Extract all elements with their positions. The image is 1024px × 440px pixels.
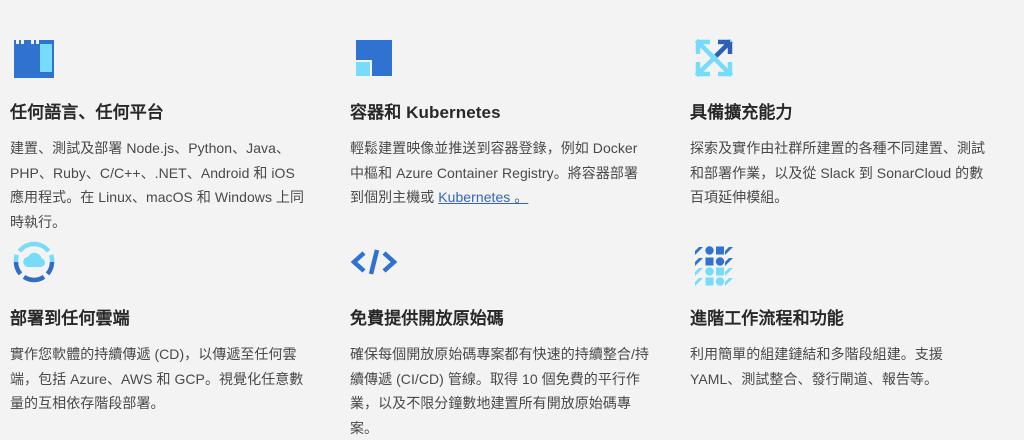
feature-card-any-language: 任何語言、任何平台 建置、測試及部署 Node.js、Python、Java、P… bbox=[0, 34, 340, 234]
cloud-deploy-icon bbox=[10, 238, 58, 286]
feature-body: 探索及實作由社群所建置的各種不同建置、測試和部署作業，以及從 Slack 到 S… bbox=[690, 136, 996, 210]
feature-body-text: 利用簡單的組建鏈結和多階段組建。支援 YAML、測試整合、發行閘道、報告等。 bbox=[690, 346, 943, 387]
feature-card-containers-kubernetes: 容器和 Kubernetes 輕鬆建置映像並推送到容器登錄，例如 Docker … bbox=[340, 34, 680, 234]
feature-body: 建置、測試及部署 Node.js、Python、Java、PHP、Ruby、C/… bbox=[10, 136, 312, 234]
feature-body: 確保每個開放原始碼專案都有快速的持續整合/持續傳遞 (CI/CD) 管線。取得 … bbox=[350, 342, 652, 440]
feature-body: 實作您軟體的持續傳遞 (CD)，以傳遞至任何雲端，包括 Azure、AWS 和 … bbox=[10, 342, 312, 416]
feature-body: 利用簡單的組建鏈結和多階段組建。支援 YAML、測試整合、發行閘道、報告等。 bbox=[690, 342, 996, 391]
code-brackets-icon bbox=[350, 238, 398, 286]
feature-body-text: 建置、測試及部署 Node.js、Python、Java、PHP、Ruby、C/… bbox=[10, 140, 304, 230]
feature-card-scalability: 具備擴充能力 探索及實作由社群所建置的各種不同建置、測試和部署作業，以及從 Sl… bbox=[680, 34, 1024, 234]
feature-card-open-source: 免費提供開放原始碼 確保每個開放原始碼專案都有快速的持續整合/持續傳遞 (CI/… bbox=[340, 234, 680, 440]
feature-title: 任何語言、任何平台 bbox=[10, 102, 312, 124]
feature-body: 輕鬆建置映像並推送到容器登錄，例如 Docker 中樞和 Azure Conta… bbox=[350, 136, 652, 210]
feature-title: 容器和 Kubernetes bbox=[350, 102, 652, 124]
feature-title: 進階工作流程和功能 bbox=[690, 308, 996, 330]
platform-window-icon bbox=[10, 34, 58, 82]
feature-card-advanced-workflows: 進階工作流程和功能 利用簡單的組建鏈結和多階段組建。支援 YAML、測試整合、發… bbox=[680, 234, 1024, 440]
feature-card-any-cloud: 部署到任何雲端 實作您軟體的持續傳遞 (CD)，以傳遞至任何雲端，包括 Azur… bbox=[0, 234, 340, 440]
feature-body-text: 確保每個開放原始碼專案都有快速的持續整合/持續傳遞 (CI/CD) 管線。取得 … bbox=[350, 346, 649, 436]
features-grid: 任何語言、任何平台 建置、測試及部署 Node.js、Python、Java、P… bbox=[0, 0, 1024, 440]
feature-body-text: 探索及實作由社群所建置的各種不同建置、測試和部署作業，以及從 Slack 到 S… bbox=[690, 140, 985, 205]
feature-title: 具備擴充能力 bbox=[690, 102, 996, 124]
kubernetes-link[interactable]: Kubernetes 。 bbox=[438, 189, 528, 205]
feature-title: 免費提供開放原始碼 bbox=[350, 308, 652, 330]
containers-kubernetes-icon bbox=[350, 34, 398, 82]
feature-title: 部署到任何雲端 bbox=[10, 308, 312, 330]
expand-arrows-icon bbox=[690, 34, 738, 82]
feature-body-text: 實作您軟體的持續傳遞 (CD)，以傳遞至任何雲端，包括 Azure、AWS 和 … bbox=[10, 346, 303, 411]
workflow-grid-icon bbox=[690, 238, 738, 286]
